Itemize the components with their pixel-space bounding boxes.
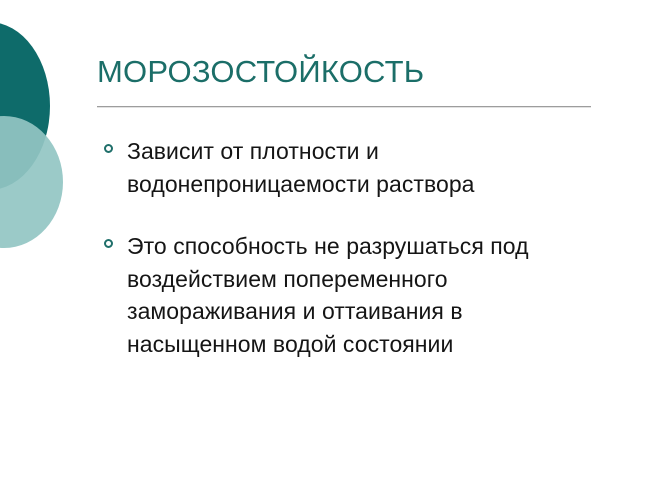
hollow-circle-bullet-icon xyxy=(104,144,113,153)
list-item: Это способность не разрушаться под возде… xyxy=(100,230,620,360)
bullet-list: Зависит от плотности и водонепроницаемос… xyxy=(100,135,620,360)
list-item-text: Зависит от плотности и водонепроницаемос… xyxy=(127,135,522,200)
light-teal-circle xyxy=(0,116,63,248)
list-item-text: Это способность не разрушаться под возде… xyxy=(127,230,607,360)
hollow-circle-bullet-icon xyxy=(104,239,113,248)
title-divider xyxy=(97,106,591,108)
presentation-slide: МОРОЗОСТОЙКОСТЬ Зависит от плотности и в… xyxy=(0,0,670,503)
slide-title: МОРОЗОСТОЙКОСТЬ xyxy=(97,53,593,91)
list-item: Зависит от плотности и водонепроницаемос… xyxy=(100,135,620,200)
